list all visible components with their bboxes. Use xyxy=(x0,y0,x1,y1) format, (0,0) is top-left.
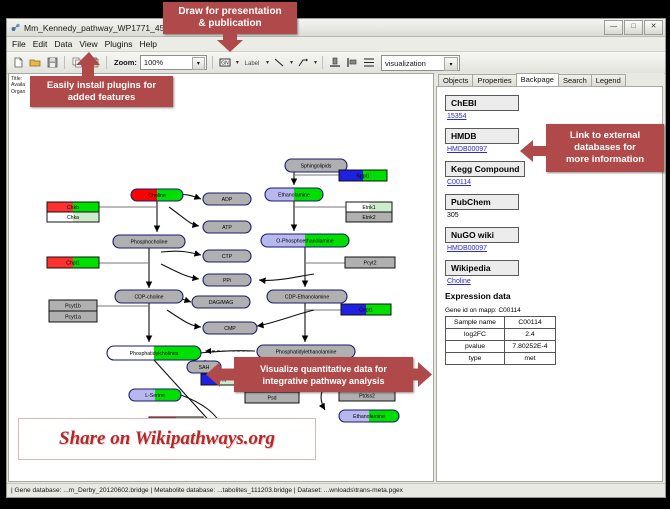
db-name-chebi: ChEBI xyxy=(445,95,519,111)
gene-node-chpt1[interactable]: Chpt1 xyxy=(47,257,99,268)
callout-plugins: Easily install plugins for added feature… xyxy=(30,76,173,107)
distribute-vertical-icon[interactable] xyxy=(362,56,376,70)
callout-draw-arrow xyxy=(212,32,248,52)
gene-id-line: Gene id on mapp: C00114 xyxy=(445,307,654,314)
metabolite-node-ctp[interactable]: CTP xyxy=(203,250,251,262)
node-label: Choline xyxy=(148,193,166,199)
tab-search[interactable]: Search xyxy=(558,74,592,86)
metabolite-node-cmp[interactable]: CMP xyxy=(203,322,257,334)
expression-value: 2.4 xyxy=(505,329,556,341)
chevron-down-icon-line[interactable]: ▾ xyxy=(290,59,293,66)
gene-node-psd[interactable]: Psd xyxy=(245,392,299,403)
callout-links: Link to external databases for more info… xyxy=(546,124,664,172)
chevron-down-icon-label[interactable]: ▾ xyxy=(266,59,269,66)
side-panel-tabs: ObjectsPropertiesBackpageSearchLegend xyxy=(435,73,664,86)
db-name-nugo-wiki: NuGO wiki xyxy=(445,227,519,243)
pathvisio-icon xyxy=(11,23,20,32)
menu-item-file[interactable]: File xyxy=(12,39,26,49)
node-label: Ethanolamine xyxy=(353,414,385,420)
callout-visualize: Visualize quantitative data for integrat… xyxy=(234,357,413,392)
node-label: CTP xyxy=(222,254,233,260)
db-name-pubchem: PubChem xyxy=(445,194,519,210)
new-file-icon[interactable] xyxy=(11,56,25,70)
callout-visualize-line1: Visualize quantitative data for xyxy=(260,363,387,375)
gene-node-pcyt1b[interactable]: Pcyt1b xyxy=(49,300,97,311)
node-label: ADP xyxy=(222,197,233,203)
window-controls: — □ ✕ xyxy=(604,20,663,35)
callout-links-line2: databases for xyxy=(574,142,636,154)
visualization-value: visualization xyxy=(385,59,426,68)
db-link-wikipedia[interactable]: Choline xyxy=(447,278,654,285)
expression-row: typemet xyxy=(446,353,556,365)
metabolite-node-cdp-choline[interactable]: CDP-choline xyxy=(115,290,183,303)
gene-node-sgpl1[interactable]: Sgpl1 xyxy=(339,170,387,181)
node-label: Etnk2 xyxy=(362,215,375,221)
screenshot-root: Mm_Kennedy_pathway_WP1771_45176.gpml — □… xyxy=(0,0,670,509)
svg-text:Label: Label xyxy=(245,61,260,67)
callout-plugins-line1: Easily install plugins for xyxy=(47,80,156,92)
metabolite-node-ethanolamine-2[interactable]: Ethanolamine xyxy=(339,410,399,422)
open-folder-icon[interactable] xyxy=(28,56,42,70)
expression-key: log2FC xyxy=(446,329,505,341)
status-bar-text: | Gene database: ...m_Derby_20120602.bri… xyxy=(11,487,403,494)
node-label: DAG/MAG xyxy=(209,300,234,306)
metabolite-node-ppi[interactable]: PPi xyxy=(203,274,251,286)
gene-node-cept1[interactable]: Cept1 xyxy=(341,304,391,315)
node-label: Etnk1 xyxy=(362,205,375,211)
chevron-down-icon[interactable]: ▾ xyxy=(192,57,205,70)
expression-key: Sample name xyxy=(446,317,505,329)
gene-node-chkb[interactable]: Chkb xyxy=(47,202,99,212)
callout-draw-line1: Draw for presentation xyxy=(178,6,281,18)
tab-backpage[interactable]: Backpage xyxy=(516,73,559,86)
datanode-icon[interactable]: GN xyxy=(218,56,232,70)
metabolite-node-o-phosphoethanolamine[interactable]: O-Phosphoethanolamine xyxy=(261,234,349,247)
metabolite-node-phosphocholine[interactable]: Phosphocholine xyxy=(113,235,185,248)
node-label: Pcyt2 xyxy=(364,261,377,267)
chevron-down-icon-visualization[interactable]: ▾ xyxy=(444,57,458,71)
db-value-pubchem: 305 xyxy=(447,212,654,219)
chevron-down-icon-interaction[interactable]: ▾ xyxy=(314,59,317,66)
expression-value: C00114 xyxy=(505,317,556,329)
node-label: PPi xyxy=(223,278,231,284)
callout-visualize-arrow xyxy=(206,362,236,387)
callout-draw-line2: & publication xyxy=(198,18,261,30)
pathway-edge xyxy=(161,264,199,279)
expression-data-title: Expression data xyxy=(445,291,654,301)
db-link-kegg-compound[interactable]: C00114 xyxy=(447,179,654,186)
expression-key: type xyxy=(446,353,505,365)
node-label: Phosphocholine xyxy=(131,240,168,246)
node-label: Psd xyxy=(268,396,277,402)
expression-row: log2FC2.4 xyxy=(446,329,556,341)
database-entries: ChEBI15354HMDBHMDB00097Kegg CompoundC001… xyxy=(445,93,654,285)
metabolite-node-ethanolamine-1[interactable]: Ethanolamine xyxy=(265,188,323,201)
db-name-wikipedia: Wikipedia xyxy=(445,260,519,276)
db-link-nugo-wiki[interactable]: HMDB00097 xyxy=(447,245,654,252)
db-link-chebi[interactable]: 15354 xyxy=(447,113,654,120)
gene-node-pcyt2[interactable]: Pcyt2 xyxy=(345,257,395,268)
toolbar-separator-4 xyxy=(322,56,323,69)
tab-legend[interactable]: Legend xyxy=(591,74,626,86)
expression-table: Sample nameC00114log2FC2.4pvalue7.80252E… xyxy=(445,316,556,365)
metabolite-node-atp[interactable]: ATP xyxy=(203,221,251,233)
close-button[interactable]: ✕ xyxy=(644,20,663,35)
callout-plugins-arrow xyxy=(76,52,106,78)
tab-objects[interactable]: Objects xyxy=(438,74,473,86)
gene-node-etnk1[interactable]: Etnk1 xyxy=(346,202,392,212)
node-label: CMP xyxy=(224,326,236,332)
node-label: L-Serine xyxy=(145,393,165,399)
callout-draw: Draw for presentation & publication xyxy=(163,2,297,34)
maximize-button[interactable]: □ xyxy=(624,20,643,35)
node-label: Cept1 xyxy=(359,308,373,314)
node-label: Ethanolamine xyxy=(278,193,310,199)
node-label: Phosphatidylcholines xyxy=(130,351,179,357)
menu-item-view[interactable]: View xyxy=(79,39,97,49)
node-label: Chkb xyxy=(67,205,79,211)
menu-item-edit[interactable]: Edit xyxy=(33,39,48,49)
callout-visualize-line2: integrative pathway analysis xyxy=(262,375,384,387)
node-label: Pcyt1a xyxy=(65,315,81,321)
zoom-label: Zoom: xyxy=(114,58,137,67)
status-bar: | Gene database: ...m_Derby_20120602.bri… xyxy=(7,483,665,497)
node-label: ATP xyxy=(222,225,232,231)
callout-links-arrow xyxy=(520,140,548,162)
menu-item-help[interactable]: Help xyxy=(140,39,157,49)
node-label: Sphingolipids xyxy=(301,164,332,170)
toolbar-separator-2 xyxy=(106,56,107,69)
chevron-down-icon-datanode[interactable]: ▾ xyxy=(236,59,239,66)
zoom-value: 100% xyxy=(144,58,163,67)
share-banner-text: Share on Wikipathways.org xyxy=(59,428,275,450)
metabolite-node-sphingolipids[interactable]: Sphingolipids xyxy=(285,159,347,172)
window-titlebar: Mm_Kennedy_pathway_WP1771_45176.gpml — □… xyxy=(7,19,665,37)
metabolite-node-l-serine-left[interactable]: L-Serine xyxy=(129,389,181,401)
minimize-button[interactable]: — xyxy=(604,20,623,35)
label-icon[interactable]: Label xyxy=(242,56,262,70)
pathway-edge xyxy=(259,274,314,280)
toolbar-separator xyxy=(64,56,65,69)
node-label: Chka xyxy=(67,215,79,221)
share-banner: Share on Wikipathways.org xyxy=(18,418,316,460)
gene-node-chka[interactable]: Chka xyxy=(47,212,99,222)
gene-node-etnk2[interactable]: Etnk2 xyxy=(346,212,392,222)
pathway-edge xyxy=(161,251,201,255)
db-name-kegg-compound: Kegg Compound xyxy=(445,161,525,177)
menu-item-plugins[interactable]: Plugins xyxy=(105,39,133,49)
callout-links-line1: Link to external xyxy=(570,130,640,142)
tab-properties[interactable]: Properties xyxy=(472,74,516,86)
pathway-edge xyxy=(167,310,201,327)
gene-node-pcyt1a[interactable]: Pcyt1a xyxy=(49,311,97,322)
node-label: Chpt1 xyxy=(66,261,80,267)
align-left-icon[interactable] xyxy=(345,56,359,70)
metabolite-node-choline-top[interactable]: Choline xyxy=(131,189,183,201)
expression-key: pvalue xyxy=(446,341,505,353)
metabolite-node-phosphatidylcholine[interactable]: Phosphatidylcholines xyxy=(107,346,201,360)
expression-value: met xyxy=(505,353,556,365)
metabolite-node-adp[interactable]: ADP xyxy=(203,193,251,205)
callout-visualize-arrow-right xyxy=(410,362,432,387)
callout-links-line3: more information xyxy=(566,154,644,166)
align-bottom-icon[interactable] xyxy=(328,56,342,70)
menubar: File Edit Data View Plugins Help xyxy=(7,37,665,52)
pathway-edge xyxy=(169,207,199,226)
node-label: Ptdss2 xyxy=(359,394,375,400)
callout-plugins-line2: added features xyxy=(68,92,136,104)
node-label: O-Phosphoethanolamine xyxy=(276,239,334,245)
zoom-select[interactable]: 100% ▾ xyxy=(140,55,207,70)
toolbar-separator-3 xyxy=(212,56,213,69)
menu-item-data[interactable]: Data xyxy=(54,39,72,49)
metabolite-node-dag-mag[interactable]: DAG/MAG xyxy=(192,296,250,308)
node-label: Phosphatidylethanolamine xyxy=(276,350,337,356)
expression-row: Sample nameC00114 xyxy=(446,317,556,329)
save-icon[interactable] xyxy=(45,56,59,70)
interaction-icon[interactable] xyxy=(296,56,310,70)
node-label: Pcyt1b xyxy=(65,304,81,310)
node-label: CDP-Ethanolamine xyxy=(285,295,330,301)
node-label: Sgpl1 xyxy=(356,174,369,180)
node-label: CDP-choline xyxy=(134,295,163,301)
svg-text:GN: GN xyxy=(221,61,229,67)
line-icon[interactable] xyxy=(272,56,286,70)
db-name-hmdb: HMDB xyxy=(445,128,519,144)
expression-row: pvalue7.80252E-4 xyxy=(446,341,556,353)
metabolite-node-cdp-ethanolamine[interactable]: CDP-Ethanolamine xyxy=(267,290,347,303)
visualization-select[interactable]: visualization ▾ xyxy=(381,55,460,71)
expression-value: 7.80252E-4 xyxy=(505,341,556,353)
